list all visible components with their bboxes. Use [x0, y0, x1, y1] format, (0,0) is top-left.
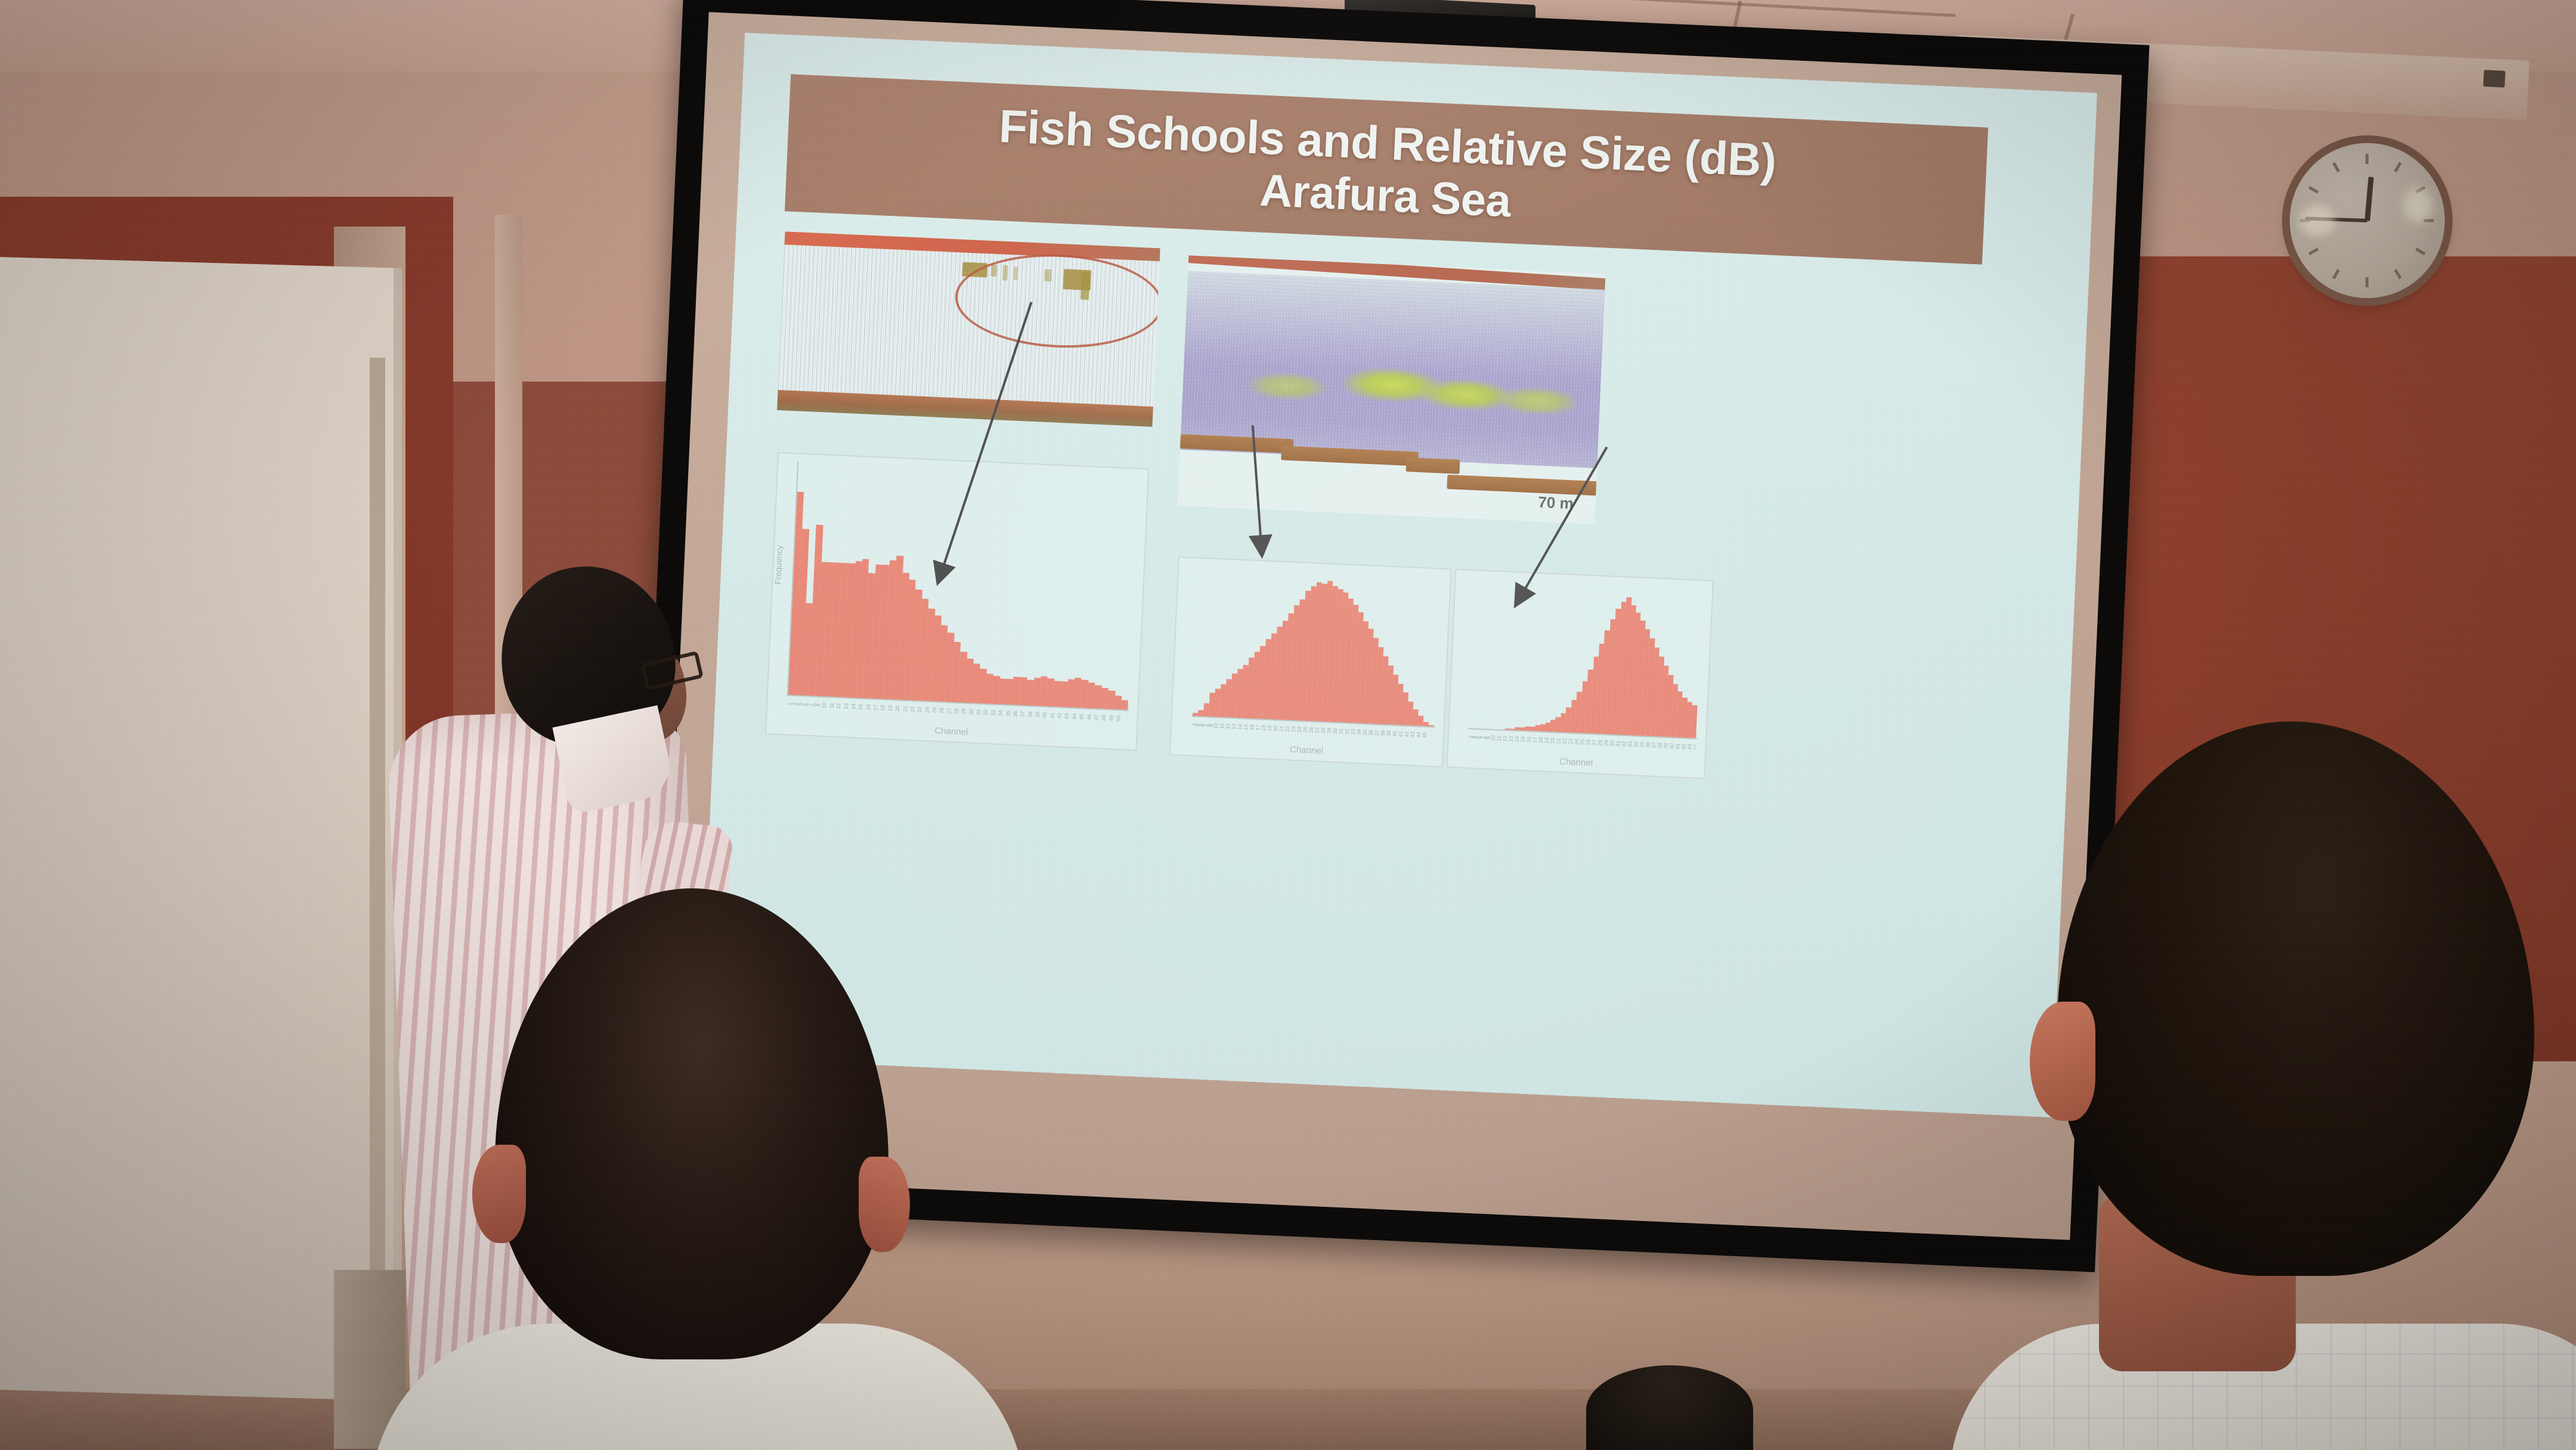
whiteboard-frame: [370, 358, 385, 1395]
histogram-plot-area: [1193, 568, 1441, 727]
histogram-bar: [1690, 705, 1697, 738]
clock-tick: [2394, 162, 2402, 172]
slide-title-bar: Fish Schools and Relative Size (dB) Araf…: [785, 74, 1988, 264]
histogram-right: 1234567891011121314151617181920212223242…: [1447, 569, 1714, 779]
audience-head: [495, 888, 888, 1359]
clock-hour-hand: [2365, 176, 2374, 221]
ear: [472, 1145, 526, 1243]
clock-tick: [2308, 247, 2318, 255]
clock-tick: [2308, 186, 2318, 194]
clock-tick: [2332, 269, 2340, 279]
seabed-segment: [1406, 457, 1460, 474]
depth-label: 70 m: [1538, 493, 1574, 513]
clock-tick: [2366, 277, 2368, 287]
seabed-segment: [1447, 475, 1602, 496]
ear: [2030, 1002, 2095, 1121]
echogram-right-panel: 70 m: [1178, 255, 1606, 524]
fish-school-layer: [1498, 386, 1577, 416]
audience-member-front-left: [441, 888, 942, 1449]
histogram-large-left: 1234567891011121314151617181920212223242…: [765, 452, 1149, 751]
clock-glare: [2299, 205, 2335, 236]
x-axis-tick-label: 44: [1692, 744, 1696, 751]
clock-tick: [2416, 247, 2426, 255]
clock-tick: [2332, 162, 2340, 172]
echogram-left-panel: [777, 231, 1160, 427]
x-axis-tick-label: 50: [1115, 715, 1128, 722]
histogram-bar: [1198, 710, 1203, 716]
x-axis-tick-label: 45: [1422, 732, 1434, 739]
histogram-plot-area: [1470, 580, 1703, 738]
x-axis-title: Channel: [1448, 752, 1704, 773]
slide-title-line2: Arafura Sea: [1259, 167, 1512, 225]
clock-tick: [2366, 154, 2368, 164]
audience-head: [2057, 721, 2534, 1276]
audience-member-front-right: [1986, 721, 2576, 1450]
clock-glare: [2403, 187, 2432, 223]
histogram-middle: 1234567891011121314151617181920212223242…: [1169, 556, 1451, 767]
whiteboard: [0, 256, 402, 1401]
histogram-plot-area: [788, 464, 1138, 710]
wall-clock: [2290, 143, 2445, 298]
ear: [859, 1157, 910, 1252]
histogram-bar: [1121, 701, 1128, 710]
y-axis-title: Frequency: [773, 544, 784, 584]
clock-tick: [2394, 269, 2402, 279]
roller-end-cap: [2483, 70, 2505, 88]
audience-head-partial: [1586, 1365, 1753, 1450]
conference-room-scene: Fish Schools and Relative Size (dB) Araf…: [0, 0, 2576, 1450]
fish-school-layer: [1248, 371, 1327, 401]
